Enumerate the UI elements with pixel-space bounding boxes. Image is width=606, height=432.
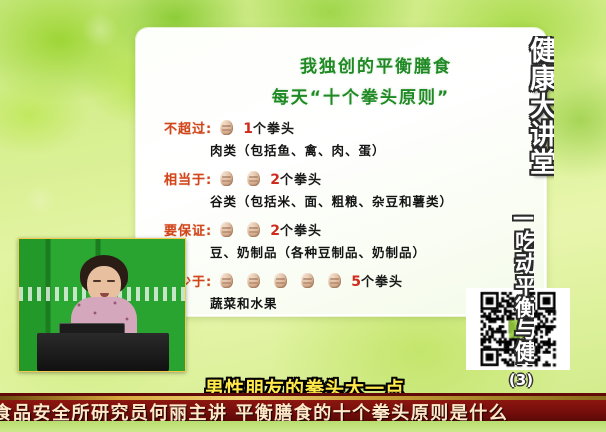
speaker-pip-video[interactable] (18, 238, 186, 372)
ticker-bottom-strip (0, 421, 606, 432)
presentation-slide: 我独创的平衡膳食 每天“十个拳头原则” 不超过:1个拳头肉类（包括鱼、禽、肉、蛋… (136, 28, 546, 316)
ticker-text: 与食品安全所研究员何丽主讲 平衡膳食的十个拳头原则是什么 (0, 399, 508, 421)
fist-icon-group (220, 222, 260, 237)
fist-icon (301, 273, 314, 288)
rule-unit: 个拳头 (253, 122, 295, 137)
rule-description: 肉类（包括鱼、禽、肉、蛋） (210, 140, 544, 159)
slide-rule: 要保证:2个拳头豆、奶制品（各种豆制品、奶制品） (138, 219, 544, 261)
fist-icon (247, 222, 260, 237)
fist-icon-group (220, 171, 260, 186)
rule-count: 2个拳头 (270, 169, 322, 188)
fist-icon (220, 171, 233, 186)
fist-icon (328, 273, 341, 288)
slide-rule: 不超过:1个拳头肉类（包括鱼、禽、肉、蛋） (138, 117, 544, 159)
fist-icon (220, 273, 233, 288)
slide-title-line-2: 每天“十个拳头原则” (138, 83, 544, 108)
rule-label: 要保证: (164, 220, 212, 239)
program-vertical-subtitle: —吃动平衡与健康生活 (512, 205, 534, 365)
rule-count: 1个拳头 (243, 118, 295, 137)
podium (37, 333, 169, 371)
fist-icon (220, 120, 233, 135)
rule-row: 不超过:1个拳头 (164, 117, 544, 138)
slide-rules-list: 不超过:1个拳头肉类（包括鱼、禽、肉、蛋）相当于:2个拳头谷类（包括米、面、粗粮… (138, 117, 544, 312)
rule-description: 谷类（包括米、面、粗粮、杂豆和薯类） (210, 191, 544, 210)
fist-icon (274, 273, 287, 288)
rule-unit: 个拳头 (280, 173, 322, 188)
fist-icon-group (220, 273, 341, 288)
rule-label: 相当于: (164, 169, 212, 188)
video-frame: 我独创的平衡膳食 每天“十个拳头原则” 不超过:1个拳头肉类（包括鱼、禽、肉、蛋… (0, 0, 606, 432)
fist-icon (247, 171, 260, 186)
rule-label: 不超过: (164, 118, 212, 137)
rule-row: 相当于:2个拳头 (164, 168, 544, 189)
slide-title-line-1: 我独创的平衡膳食 (138, 52, 544, 77)
rule-count: 2个拳头 (270, 220, 322, 239)
fist-icon (220, 222, 233, 237)
rule-unit: 个拳头 (280, 224, 322, 239)
slide-rule: 相当于:2个拳头谷类（包括米、面、粗粮、杂豆和薯类） (138, 168, 544, 210)
rule-row: 要保证:2个拳头 (164, 219, 544, 240)
fist-icon-group (220, 120, 233, 135)
rule-description: 豆、奶制品（各种豆制品、奶制品） (210, 242, 544, 261)
rule-count: 5个拳头 (351, 271, 403, 290)
news-ticker-bar: 与食品安全所研究员何丽主讲 平衡膳食的十个拳头原则是什么 (0, 393, 606, 421)
fist-icon (247, 273, 260, 288)
rule-unit: 个拳头 (361, 275, 403, 290)
